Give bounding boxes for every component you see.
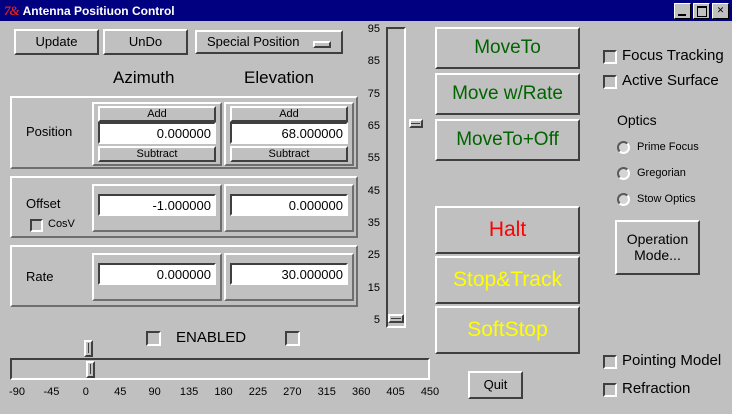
chevron-down-icon — [313, 41, 331, 48]
rate-elevation-cluster: 30.000000 — [224, 253, 354, 301]
elevation-scale-handle[interactable] — [388, 314, 404, 323]
position-group: Position Add 0.000000 Subtract Add 68.00… — [10, 96, 358, 169]
position-azimuth-cluster: Add 0.000000 Subtract — [92, 102, 222, 166]
rate-azimuth-entry[interactable]: 0.000000 — [98, 263, 216, 285]
enabled-elevation-checkbox[interactable] — [285, 331, 300, 346]
operation-mode-line1: Operation — [627, 232, 688, 248]
rate-group: Rate 0.000000 30.000000 — [10, 245, 358, 307]
radio-gregorian-label: Gregorian — [637, 167, 686, 179]
elevation-column-header: Elevation — [244, 68, 314, 88]
elevation-scale[interactable] — [386, 27, 406, 328]
moveto-button[interactable]: MoveTo — [435, 27, 580, 69]
offset-row-label: Offset — [26, 196, 60, 211]
operation-mode-line2: Mode... — [634, 248, 681, 264]
quit-button[interactable]: Quit — [468, 371, 523, 399]
offset-group: Offset CosV -1.000000 0.000000 — [10, 176, 358, 238]
position-azimuth-add-button[interactable]: Add — [98, 106, 216, 122]
offset-elevation-cluster: 0.000000 — [224, 184, 354, 232]
elevation-tick-35: 35 — [358, 217, 380, 229]
title-bar: 7& Antenna Positiuon Control ✕ — [0, 0, 732, 21]
radio-stow-optics[interactable] — [617, 193, 630, 206]
focus-tracking-label: Focus Tracking — [622, 47, 724, 64]
position-row-label: Position — [26, 124, 72, 139]
position-azimuth-entry[interactable]: 0.000000 — [98, 122, 216, 144]
halt-button[interactable]: Halt — [435, 206, 580, 254]
window-title: Antenna Positiuon Control — [23, 4, 175, 18]
elevation-position-marker[interactable] — [409, 119, 423, 128]
position-elevation-cluster: Add 68.000000 Subtract — [224, 102, 354, 166]
operation-mode-button[interactable]: Operation Mode... — [615, 220, 700, 275]
azimuth-column-header: Azimuth — [113, 68, 174, 88]
close-button[interactable]: ✕ — [712, 3, 729, 19]
azimuth-scale-handle[interactable] — [86, 361, 95, 378]
position-elevation-entry[interactable]: 68.000000 — [230, 122, 348, 144]
position-azimuth-subtract-button[interactable]: Subtract — [98, 146, 216, 162]
position-elevation-add-button[interactable]: Add — [230, 106, 348, 122]
offset-azimuth-cluster: -1.000000 — [92, 184, 222, 232]
softstop-button[interactable]: SoftStop — [435, 306, 580, 354]
undo-button[interactable]: UnDo — [103, 29, 188, 55]
position-elevation-subtract-button[interactable]: Subtract — [230, 146, 348, 162]
cosv-label: CosV — [48, 218, 75, 230]
radio-gregorian[interactable] — [617, 167, 630, 180]
enabled-azimuth-checkbox[interactable] — [146, 331, 161, 346]
azimuth-tick-450: 450 — [410, 386, 450, 398]
azimuth-scale-trough[interactable] — [10, 358, 430, 380]
focus-tracking-checkbox[interactable] — [603, 50, 617, 64]
antenna-position-control-window: 7& Antenna Positiuon Control ✕ Update Un… — [0, 0, 732, 414]
refraction-checkbox[interactable] — [603, 383, 617, 397]
minimize-button[interactable] — [674, 3, 691, 19]
rate-azimuth-cluster: 0.000000 — [92, 253, 222, 301]
enabled-label: ENABLED — [176, 329, 246, 346]
elevation-tick-25: 25 — [358, 249, 380, 261]
offset-azimuth-entry[interactable]: -1.000000 — [98, 194, 216, 216]
offset-elevation-entry[interactable]: 0.000000 — [230, 194, 348, 216]
tk-logo-icon: 7& — [4, 3, 19, 19]
stop-and-track-button[interactable]: Stop&Track — [435, 256, 580, 304]
rate-elevation-entry[interactable]: 30.000000 — [230, 263, 348, 285]
rate-row-label: Rate — [26, 269, 53, 284]
radio-prime-focus[interactable] — [617, 141, 630, 154]
refraction-label: Refraction — [622, 380, 690, 397]
radio-stow-optics-label: Stow Optics — [637, 193, 696, 205]
elevation-tick-45: 45 — [358, 185, 380, 197]
active-surface-label: Active Surface — [622, 72, 719, 89]
elevation-tick-55: 55 — [358, 152, 380, 164]
special-position-optionmenu[interactable]: Special Position — [195, 30, 343, 54]
elevation-tick-75: 75 — [358, 88, 380, 100]
optics-label: Optics — [617, 112, 657, 128]
elevation-tick-85: 85 — [358, 55, 380, 67]
move-with-rate-button[interactable]: Move w/Rate — [435, 73, 580, 115]
radio-prime-focus-label: Prime Focus — [637, 141, 699, 153]
elevation-tick-65: 65 — [358, 120, 380, 132]
pointing-model-label: Pointing Model — [622, 352, 721, 369]
active-surface-checkbox[interactable] — [603, 75, 617, 89]
azimuth-target-marker[interactable] — [84, 340, 93, 357]
maximize-button[interactable] — [693, 3, 710, 19]
elevation-scale-trough[interactable] — [386, 27, 406, 328]
pointing-model-checkbox[interactable] — [603, 355, 617, 369]
special-position-label: Special Position — [207, 35, 300, 50]
window-controls: ✕ — [674, 3, 729, 19]
elevation-tick-15: 15 — [358, 282, 380, 294]
cosv-checkbox[interactable] — [30, 219, 43, 232]
elevation-tick-5: 5 — [358, 314, 380, 326]
update-button[interactable]: Update — [14, 29, 99, 55]
elevation-tick-95: 95 — [358, 23, 380, 35]
moveto-plus-off-button[interactable]: MoveTo+Off — [435, 119, 580, 161]
